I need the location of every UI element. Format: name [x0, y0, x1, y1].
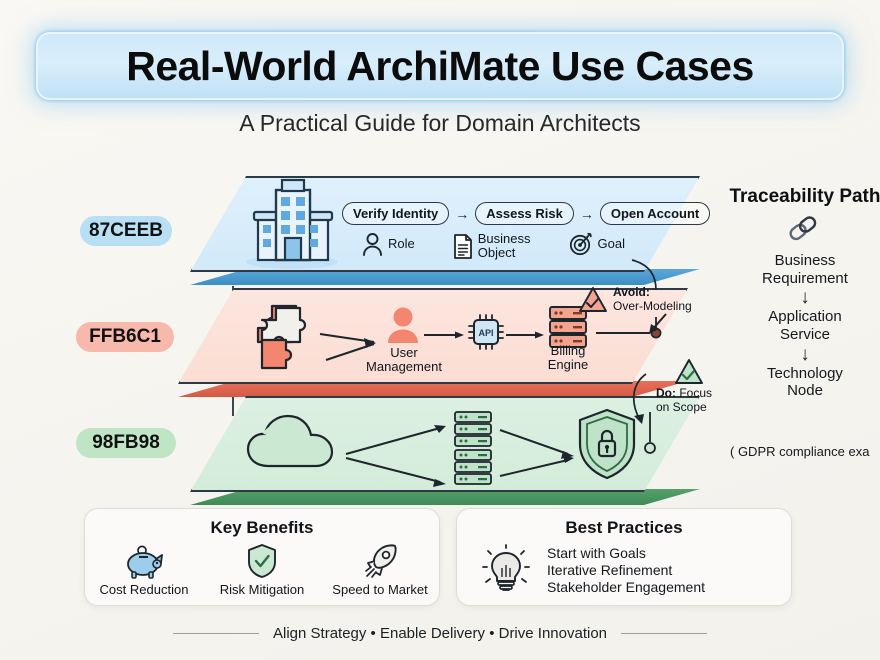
piggy-bank-icon — [123, 545, 165, 579]
best-practice-item-start-with-goals: Start with Goals — [547, 545, 705, 561]
business-element-goal: Goal — [569, 232, 625, 256]
business-process-chain: Verify Identity → Assess Risk → Open Acc… — [342, 202, 710, 225]
cloud-icon — [246, 414, 340, 470]
goal-target-icon — [569, 232, 593, 256]
shield-check-icon — [246, 543, 278, 579]
benefit-label-cost-reduction: Cost Reduction — [100, 582, 189, 597]
footer-rule-left — [173, 633, 259, 634]
traceability-step-business-requirement: Business Requirement — [700, 252, 880, 287]
key-benefits-list: Cost Reduction Risk Mitigation — [85, 543, 439, 597]
benefit-label-risk-mitigation: Risk Mitigation — [220, 582, 305, 597]
best-practice-item-iterative-refinement: Iterative Refinement — [547, 562, 705, 578]
process-chip-verify-identity[interactable]: Verify Identity — [342, 202, 449, 225]
server-rack-icon — [452, 448, 494, 488]
traceability-step-technology-node: Technology Node — [700, 365, 880, 400]
layer-color-badge-application: FFB6C1 — [76, 322, 174, 352]
arrow-api-to-billing — [506, 330, 546, 340]
user-person-icon — [386, 306, 420, 344]
arrow-user-to-api — [424, 330, 466, 340]
best-practices-title: Best Practices — [457, 518, 791, 538]
benefit-label-speed-to-market: Speed to Market — [332, 582, 427, 597]
layer-color-badge-technology: 98FB98 — [76, 428, 176, 458]
traceability-note: ( GDPR compliance exa — [730, 444, 869, 459]
traceability-panel: Traceability Path Business Requirement ↓… — [700, 186, 880, 400]
chain-link-icon — [700, 214, 880, 248]
benefit-speed-to-market: Speed to Market — [324, 543, 436, 597]
chip-arrow-icon-1: → — [455, 206, 469, 222]
benefit-cost-reduction: Cost Reduction — [88, 545, 200, 597]
business-element-label-goal: Goal — [598, 237, 625, 251]
application-node-label-user-management: User Management — [356, 346, 452, 375]
layer-color-badge-business: 87CEEB — [80, 216, 172, 246]
best-practices-content: Start with Goals Iterative Refinement St… — [483, 545, 705, 595]
traceability-step-application-service: Application Service — [700, 308, 880, 343]
footer-text: Align Strategy • Enable Delivery • Drive… — [273, 625, 607, 642]
technology-converge-arrows — [498, 420, 582, 482]
process-chip-open-account[interactable]: Open Account — [600, 202, 710, 225]
role-person-icon — [362, 232, 383, 256]
traceability-arrow-2: ↓ — [700, 345, 880, 364]
key-benefits-card: Key Benefits Cost Reduction — [84, 508, 440, 606]
warning-triangle-red-icon — [578, 286, 608, 314]
office-building-icon — [238, 176, 342, 272]
application-node-label-billing-engine: Billing Engine — [522, 344, 614, 373]
do-leader-line — [626, 372, 666, 444]
business-element-row: Role Business Object — [362, 232, 625, 260]
traceability-arrow-1: ↓ — [700, 288, 880, 307]
best-practices-card: Best Practices — [456, 508, 792, 606]
chip-arrow-icon-2: → — [580, 206, 594, 222]
footer: Align Strategy • Enable Delivery • Drive… — [0, 625, 880, 642]
infographic-canvas: Real-World ArchiMate Use Cases A Practic… — [0, 0, 880, 660]
lightbulb-icon — [483, 545, 529, 595]
business-element-business-object: Business Object — [453, 232, 531, 260]
business-object-document-icon — [453, 234, 473, 259]
puzzle-pieces-icon — [252, 298, 326, 372]
footer-rule-right — [621, 633, 707, 634]
page-subtitle: A Practical Guide for Domain Architects — [0, 110, 880, 137]
api-chip-icon: API — [466, 312, 506, 354]
traceability-title: Traceability Path — [700, 186, 880, 208]
rocket-icon — [362, 543, 398, 579]
annotation-avoid-body: Over-Modeling — [613, 299, 692, 313]
best-practice-item-stakeholder-engagement: Stakeholder Engagement — [547, 579, 705, 595]
technology-fanout-arrows — [344, 418, 464, 488]
business-element-label-business-object: Business Object — [478, 232, 531, 260]
svg-text:API: API — [478, 328, 493, 338]
server-rack-icon — [452, 410, 494, 450]
avoid-pointer-arrow — [646, 312, 672, 338]
business-element-label-role: Role — [388, 237, 415, 251]
title-banner: Real-World ArchiMate Use Cases — [36, 32, 844, 100]
business-element-role: Role — [362, 232, 415, 256]
avoid-leader-line — [630, 258, 670, 294]
key-benefits-title: Key Benefits — [85, 518, 439, 538]
page-title: Real-World ArchiMate Use Cases — [126, 43, 754, 90]
process-chip-assess-risk[interactable]: Assess Risk — [475, 202, 574, 225]
best-practices-list: Start with Goals Iterative Refinement St… — [547, 545, 705, 595]
benefit-risk-mitigation: Risk Mitigation — [206, 543, 318, 597]
